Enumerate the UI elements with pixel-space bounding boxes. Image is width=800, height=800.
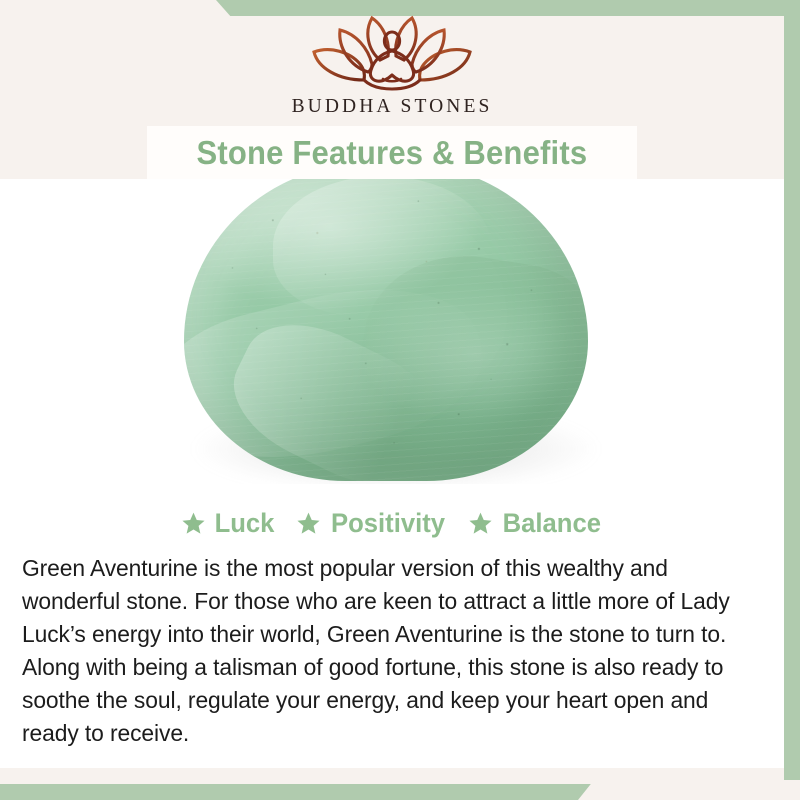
lotus-meditation-icon: [308, 10, 476, 94]
star-icon: [296, 511, 321, 536]
benefit-item-balance: Balance: [468, 508, 604, 539]
green-aventurine-stone: [184, 179, 588, 481]
product-photo: Green Aventurine: [0, 179, 784, 484]
stone-description: Green Aventurine is the most popular ver…: [22, 552, 751, 750]
stone-speckles: [184, 179, 588, 481]
benefit-item-positivity: Positivity: [296, 508, 448, 539]
star-icon: [181, 511, 206, 536]
content-panel: Luck Positivity Balance Green Aventurine…: [0, 484, 784, 768]
benefit-label: Luck: [214, 508, 274, 539]
benefit-label: Positivity: [331, 508, 445, 539]
decorative-notch-bottom-right: [578, 780, 800, 800]
benefit-item-luck: Luck: [181, 508, 276, 539]
benefits-row: Luck Positivity Balance: [22, 508, 762, 539]
benefit-label: Balance: [502, 508, 600, 539]
brand-name: BUDDHA STONES: [292, 96, 493, 118]
poster-root: BUDDHA STONES Stone Features & Benefits …: [0, 0, 800, 800]
star-icon: [468, 511, 493, 536]
title-banner: Stone Features & Benefits: [147, 126, 637, 179]
page-title: Stone Features & Benefits: [197, 134, 588, 172]
brand-header: BUDDHA STONES: [0, 0, 784, 126]
